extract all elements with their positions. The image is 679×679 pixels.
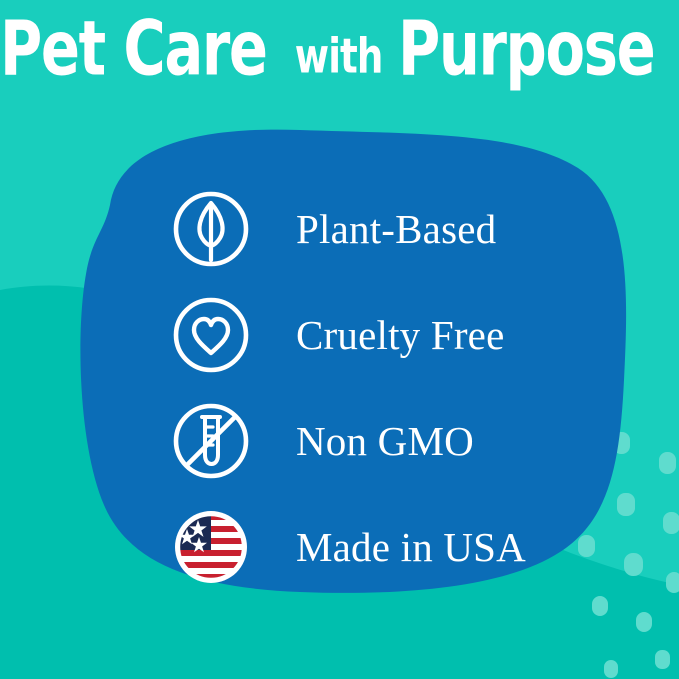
- headline-part-with: with: [292, 33, 385, 81]
- feature-row: Non GMO: [168, 388, 526, 494]
- feature-row: Cruelty Free: [168, 282, 526, 388]
- headline: Pet Care with Purpose ®: [0, 18, 679, 80]
- feature-label: Plant-Based: [296, 209, 496, 250]
- headline-part-one: Pet Care: [0, 11, 267, 87]
- no-test-tube-icon: [168, 398, 254, 484]
- heart-in-circle-icon: [168, 292, 254, 378]
- leaf-in-circle-icon: [168, 186, 254, 272]
- headline-part-purpose: Purpose: [398, 11, 654, 87]
- feature-label: Made in USA: [296, 527, 526, 568]
- feature-row: Plant-Based: [168, 176, 526, 282]
- usa-flag-circle-icon: [168, 504, 254, 590]
- promo-graphic: Pet Care with Purpose ® Plant-Based: [0, 0, 679, 679]
- feature-label: Cruelty Free: [296, 315, 504, 356]
- feature-row: Made in USA: [168, 494, 526, 600]
- headline-text: Pet Care with Purpose ®: [0, 18, 679, 80]
- feature-list: Plant-Based Cruelty Free: [168, 176, 526, 600]
- feature-label: Non GMO: [296, 421, 474, 462]
